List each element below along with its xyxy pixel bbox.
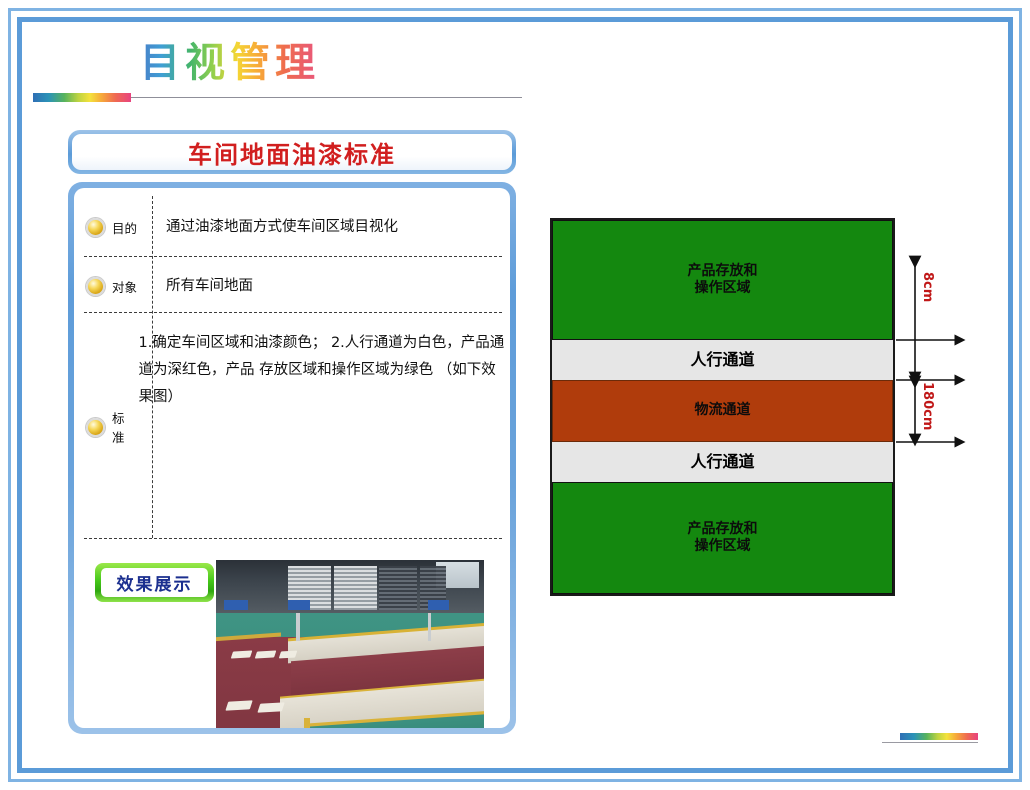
info-row-purpose: 目的 通过油漆地面方式使车间区域目视化 xyxy=(74,198,510,256)
photo-sign xyxy=(428,600,449,610)
title-divider-rule xyxy=(131,97,522,98)
slide-title-text: 目视管理 xyxy=(140,38,320,88)
slide-title: 目视管理 xyxy=(140,38,320,88)
panel-banner: 车间地面油漆标准 xyxy=(68,130,516,174)
bullet-dot-icon xyxy=(86,418,105,437)
effect-display-badge-inner: 效果展示 xyxy=(101,568,208,597)
row-label: 对象 xyxy=(112,277,137,296)
floor-layout-diagram: 产品存放和 操作区域 人行通道 物流通道 人行通道 产品存放和 操作区域 xyxy=(550,218,895,596)
dimension-label-logistics: 180cm xyxy=(920,382,935,430)
row-separator xyxy=(84,538,502,539)
photo-pole xyxy=(428,613,431,641)
panel-body-inner: 目的 通过油漆地面方式使车间区域目视化 对象 所有车间地面 xyxy=(74,188,510,728)
row-label-cell: 对象 xyxy=(74,260,152,312)
zone-pedestrian-walkway-top: 人行通道 xyxy=(552,340,893,380)
row-label-cell: 标准 xyxy=(74,316,125,538)
slide-root: 目视管理 车间地面油漆标准 目的 通过油漆地面方式使车间区域目视化 xyxy=(0,0,1030,790)
panel-body: 目的 通过油漆地面方式使车间区域目视化 对象 所有车间地面 xyxy=(68,182,516,734)
effect-display-label: 效果展示 xyxy=(117,570,193,595)
left-panel: 车间地面油漆标准 目的 通过油漆地面方式使车间区域目视化 xyxy=(68,130,516,734)
effect-display-badge: 效果展示 xyxy=(95,563,214,602)
zone-label: 产品存放和 操作区域 xyxy=(688,521,758,556)
row-content: 1.确定车间区域和油漆颜色； 2.人行通道为白色，产品通道为深红色，产品 存放区… xyxy=(125,316,510,538)
bottom-divider-rule xyxy=(882,742,978,743)
zone-label: 物流通道 xyxy=(695,402,751,420)
zone-logistics-channel: 物流通道 xyxy=(552,380,893,442)
zone-label: 人行通道 xyxy=(690,452,754,472)
zone-product-storage-top: 产品存放和 操作区域 xyxy=(552,220,893,340)
bullet-dot-icon xyxy=(86,218,105,237)
photo-sign xyxy=(288,600,309,610)
panel-banner-title: 车间地面油漆标准 xyxy=(188,135,396,170)
photo-sign xyxy=(224,600,248,610)
photo-yellow-edge xyxy=(304,718,310,728)
row-label-cell: 目的 xyxy=(74,198,152,256)
photo-rack xyxy=(334,566,377,610)
zone-label: 人行通道 xyxy=(690,350,754,370)
photo-stripe xyxy=(255,650,276,658)
row-content: 通过油漆地面方式使车间区域目视化 xyxy=(152,198,398,256)
info-row-target: 对象 所有车间地面 xyxy=(74,260,510,312)
panel-banner-inner: 车间地面油漆标准 xyxy=(72,134,512,170)
row-label: 目的 xyxy=(112,218,137,237)
factory-floor-photo xyxy=(216,560,484,728)
row-label: 标准 xyxy=(112,408,125,446)
row-separator xyxy=(84,312,502,313)
row-separator xyxy=(84,256,502,257)
zone-pedestrian-walkway-bottom: 人行通道 xyxy=(552,442,893,482)
photo-pole xyxy=(296,613,299,641)
rainbow-accent-bar-bottom xyxy=(900,733,978,740)
zone-label: 产品存放和 操作区域 xyxy=(688,263,758,298)
dimension-label-walkway: 8cm xyxy=(920,272,935,302)
bullet-dot-icon xyxy=(86,277,105,296)
zone-product-storage-bottom: 产品存放和 操作区域 xyxy=(552,482,893,594)
photo-rack xyxy=(379,566,417,610)
info-row-standard: 标准 1.确定车间区域和油漆颜色； 2.人行通道为白色，产品通道为深红色，产品 … xyxy=(74,316,510,538)
photo-stripe xyxy=(231,650,252,658)
rainbow-accent-bar xyxy=(33,93,131,102)
row-content: 所有车间地面 xyxy=(152,260,253,312)
